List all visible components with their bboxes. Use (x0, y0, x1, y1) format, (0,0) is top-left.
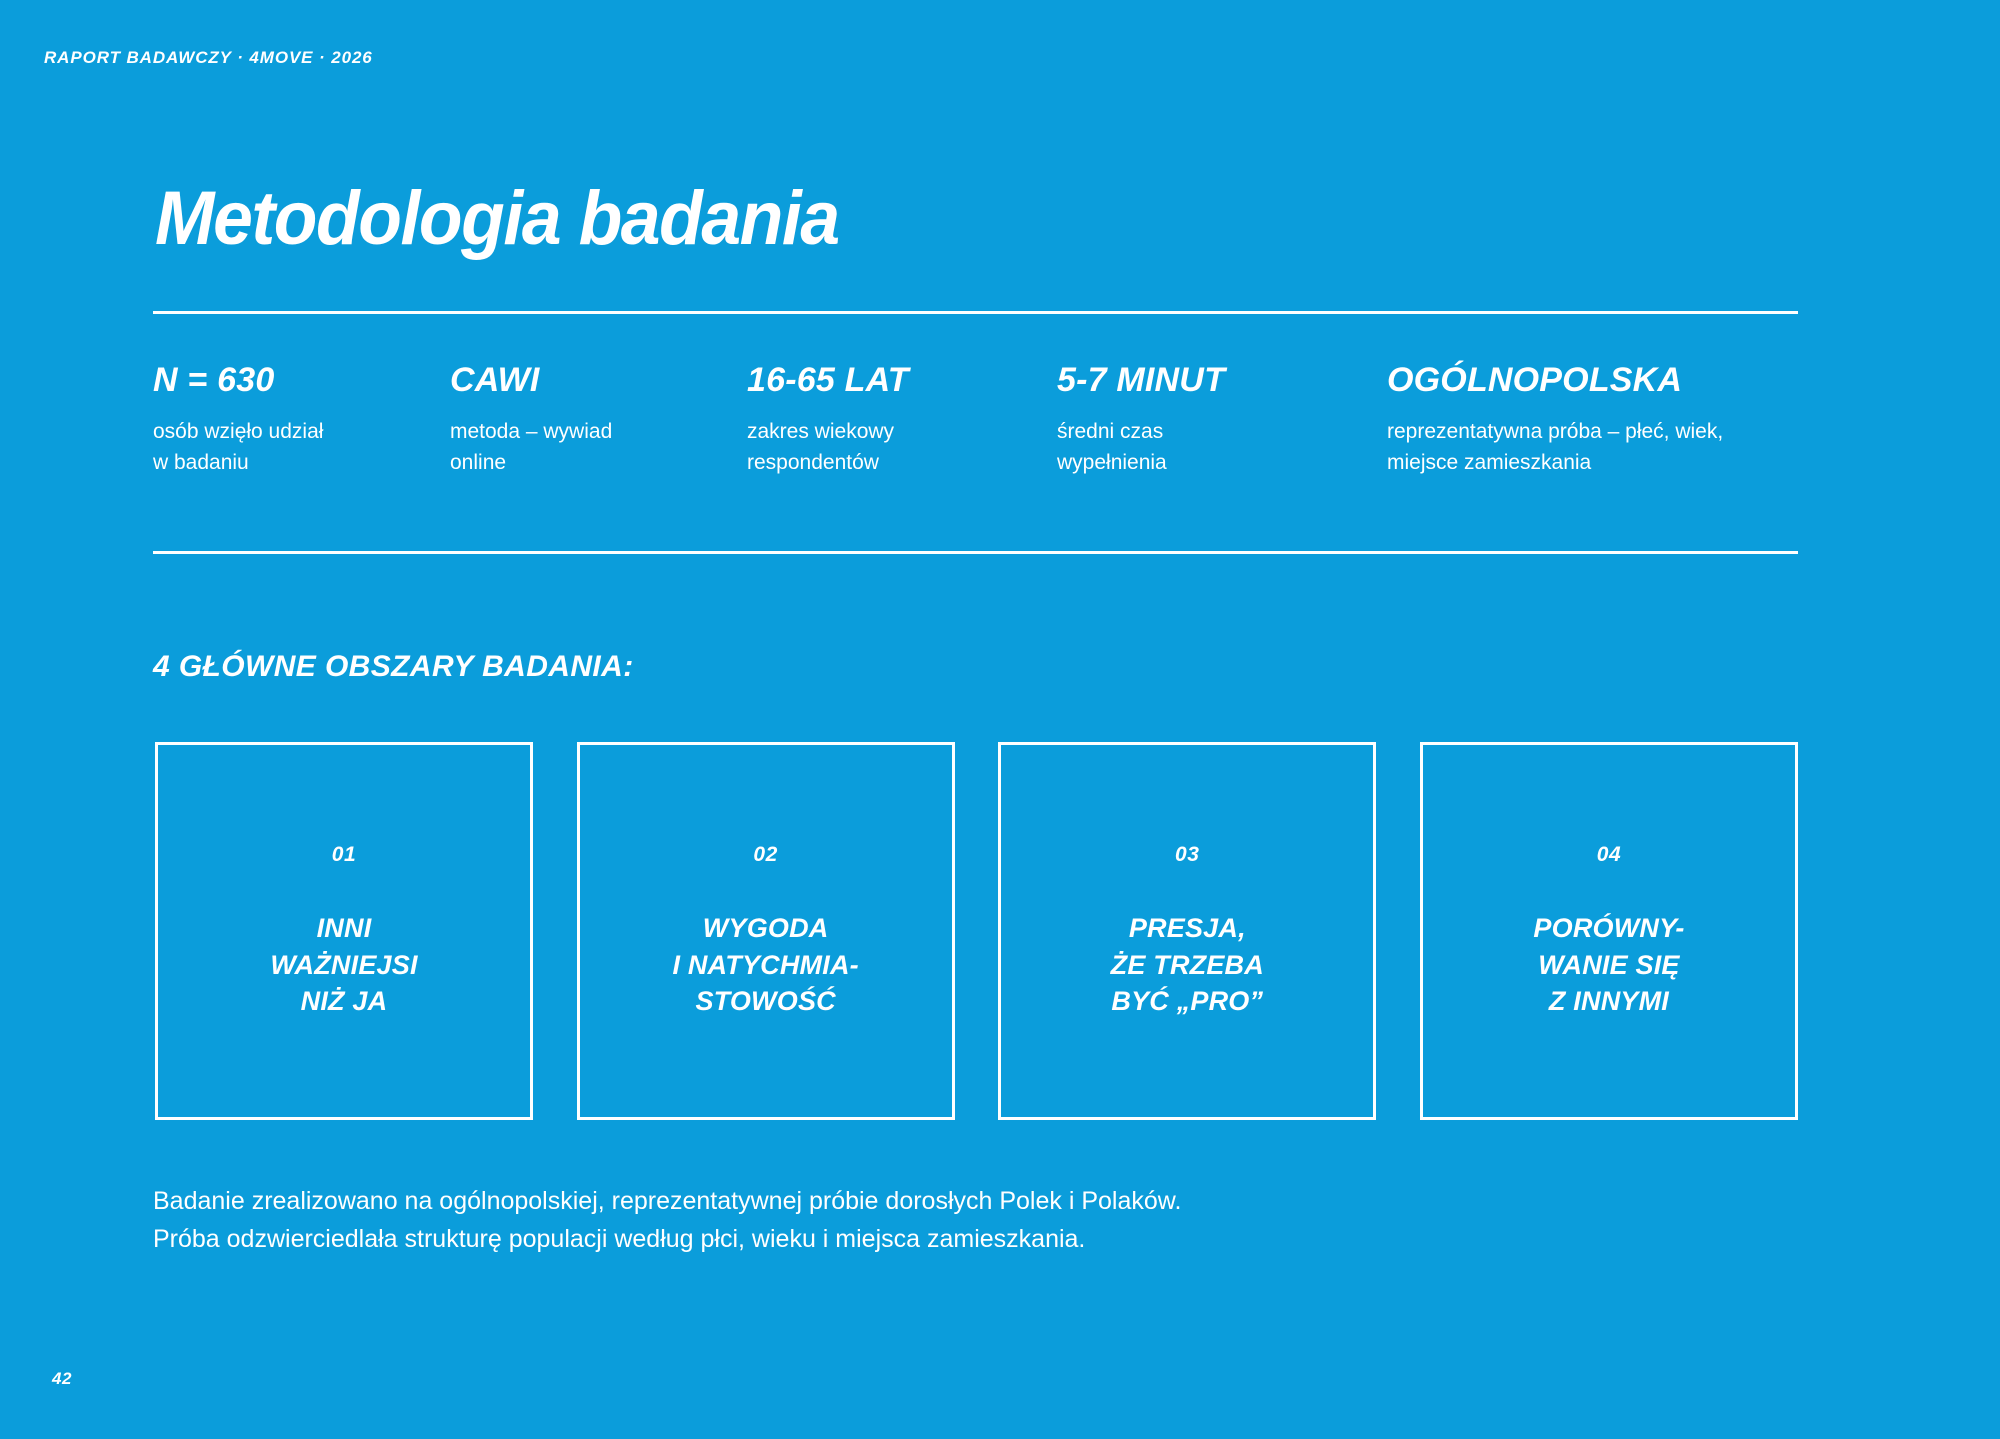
stat-item-sample-size: N = 630 osób wzięło udział w badaniu (153, 363, 450, 478)
stat-description-line: respondentów (747, 447, 1033, 478)
footer-note-line: Badanie zrealizowano na ogólnopolskiej, … (153, 1182, 1753, 1220)
section-heading-areas: 4 GŁÓWNE OBSZARY BADANIA: (153, 650, 634, 684)
area-card-03: 03 PRESJA, ŻE TRZEBA BYĆ „PRO” (998, 742, 1376, 1120)
area-card-title-line: PORÓWNY- (1423, 910, 1795, 947)
stat-description-line: reprezentatywna próba – płeć, wiek, (1387, 416, 1823, 447)
stat-description-line: zakres wiekowy (747, 416, 1033, 447)
stat-description-line: metoda – wywiad (450, 416, 723, 447)
stat-description-line: online (450, 447, 723, 478)
area-card-title-line: BYĆ „PRO” (1001, 983, 1373, 1020)
stat-description: metoda – wywiad online (450, 416, 723, 478)
divider-bottom (153, 551, 1798, 554)
area-card-number: 04 (1423, 843, 1795, 867)
stat-description-line: miejsce zamieszkania (1387, 447, 1823, 478)
slide-page: RAPORT BADAWCZY · 4MOVE · 2026 Metodolog… (0, 0, 2000, 1439)
stat-description-line: osób wzięło udział (153, 416, 426, 447)
stat-value: CAWI (450, 363, 723, 397)
stat-item-coverage: OGÓLNOPOLSKA reprezentatywna próba – płe… (1387, 363, 1847, 478)
area-card-title: WYGODA I NATYCHMIA- STOWOŚĆ (580, 910, 952, 1020)
stat-description: średni czas wypełnienia (1057, 416, 1363, 478)
stat-item-method: CAWI metoda – wywiad online (450, 363, 747, 478)
area-card-04: 04 PORÓWNY- WANIE SIĘ Z INNYMI (1420, 742, 1798, 1120)
stat-description: osób wzięło udział w badaniu (153, 416, 426, 478)
stat-value: 5-7 MINUT (1057, 363, 1363, 397)
report-kicker: RAPORT BADAWCZY · 4MOVE · 2026 (44, 48, 373, 68)
stat-description-line: wypełnienia (1057, 447, 1363, 478)
area-card-number: 02 (580, 843, 952, 867)
stat-description-line: w badaniu (153, 447, 426, 478)
area-card-title-line: WANIE SIĘ (1423, 947, 1795, 984)
stat-value: 16-65 LAT (747, 363, 1033, 397)
stat-value: N = 630 (153, 363, 426, 397)
area-card-title-line: INNI (158, 910, 530, 947)
area-card-title-line: Z INNYMI (1423, 983, 1795, 1020)
research-areas-grid: 01 INNI WAŻNIEJSI NIŻ JA 02 WYGODA I NAT… (155, 742, 1798, 1120)
area-card-title: PRESJA, ŻE TRZEBA BYĆ „PRO” (1001, 910, 1373, 1020)
area-card-title-line: WAŻNIEJSI (158, 947, 530, 984)
area-card-number: 03 (1001, 843, 1373, 867)
area-card-title-line: WYGODA (580, 910, 952, 947)
area-card-title: PORÓWNY- WANIE SIĘ Z INNYMI (1423, 910, 1795, 1020)
area-card-title-line: ŻE TRZEBA (1001, 947, 1373, 984)
area-card-title-line: PRESJA, (1001, 910, 1373, 947)
stat-description: reprezentatywna próba – płeć, wiek, miej… (1387, 416, 1823, 478)
area-card-number: 01 (158, 843, 530, 867)
stat-item-age-range: 16-65 LAT zakres wiekowy respondentów (747, 363, 1057, 478)
area-card-title-line: STOWOŚĆ (580, 983, 952, 1020)
stat-description: zakres wiekowy respondentów (747, 416, 1033, 478)
footer-note-line: Próba odzwierciedlała strukturę populacj… (153, 1220, 1753, 1258)
footer-note: Badanie zrealizowano na ogólnopolskiej, … (153, 1182, 1753, 1258)
area-card-title-line: I NATYCHMIA- (580, 947, 952, 984)
area-card-title: INNI WAŻNIEJSI NIŻ JA (158, 910, 530, 1020)
page-number: 42 (52, 1369, 72, 1389)
methodology-stats-row: N = 630 osób wzięło udział w badaniu CAW… (153, 363, 1853, 478)
stat-item-duration: 5-7 MINUT średni czas wypełnienia (1057, 363, 1387, 478)
divider-top (153, 311, 1798, 314)
stat-description-line: średni czas (1057, 416, 1363, 447)
page-title: Metodologia badania (155, 181, 839, 257)
area-card-title-line: NIŻ JA (158, 983, 530, 1020)
stat-value: OGÓLNOPOLSKA (1387, 363, 1823, 397)
area-card-01: 01 INNI WAŻNIEJSI NIŻ JA (155, 742, 533, 1120)
area-card-02: 02 WYGODA I NATYCHMIA- STOWOŚĆ (577, 742, 955, 1120)
